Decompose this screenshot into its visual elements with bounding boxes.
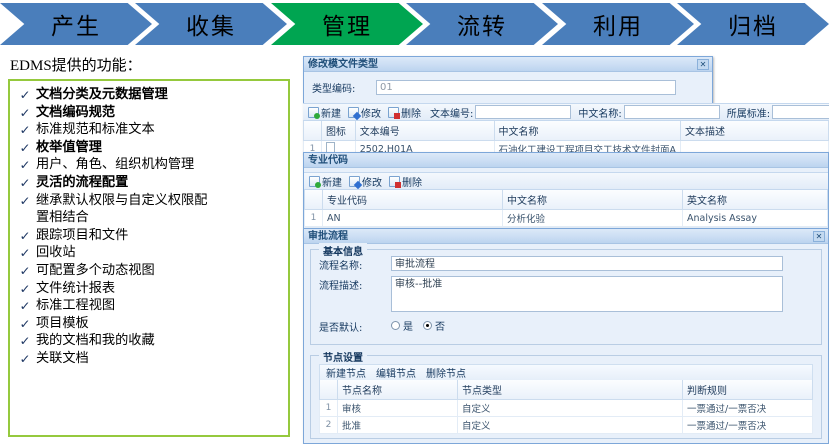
cell-ename: Analysis Assay [683,210,828,227]
search-label-cname: 中文名称: [578,105,621,120]
check-icon: ✓ [13,87,37,104]
dialog-workflow-title-bar: 审批流程 ✕ [304,229,828,244]
check-icon: ✓ [13,122,37,139]
process-step-label: 收集 [186,7,236,41]
modify-button[interactable]: 修改 [346,105,383,120]
feature-item: ✓项目模板 [14,316,284,333]
is-default-row: 是否默认: 是 否 [319,318,813,334]
delete-button-label: 删除 [401,105,421,120]
node-toolbar-button[interactable]: 编辑节点 [376,365,416,380]
process-step-label: 流转 [457,7,507,41]
node-settings-group: 节点设置 新建节点编辑节点删除节点 节点名称节点类型判断规则1审核自定义一票通过… [310,355,822,439]
column-header[interactable]: 中文名称 [494,121,681,141]
process-step-1: 产生 [0,3,152,45]
is-default-label: 是否默认: [319,318,391,334]
major-modify-label: 修改 [362,174,382,189]
feature-label: 枚举值管理 [36,140,284,157]
check-icon: ✓ [13,333,37,350]
dialog-title-bar: 修改模文件类型 ✕ [304,57,712,72]
process-step-label: 归档 [728,7,778,41]
search-input-standard[interactable] [772,105,829,119]
major-code-table[interactable]: 专业代码中文名称英文名称1AN分析化验Analysis Assay [304,190,828,227]
cell-type: 自定义 [458,400,683,417]
process-step-3: 管理 [271,3,423,45]
feature-label: 文档编码规范 [36,105,284,122]
search-input-text-no[interactable] [475,105,571,119]
column-header[interactable]: 节点类型 [458,380,683,400]
major-new-button[interactable]: 新建 [307,174,344,189]
new-icon [309,176,320,187]
feature-label: 标准规范和标准文本 [36,122,284,139]
cell-rule: 一票通过/一票否决 [683,417,813,434]
feature-item: ✓关联文档 [14,351,284,368]
process-name-label: 流程名称: [319,256,391,272]
search-label-standard: 所属标准: [727,105,770,120]
process-step-label: 利用 [593,7,643,41]
table-row[interactable]: 1审核自定义一票通过/一票否决 [320,400,813,417]
check-icon: ✓ [13,263,37,280]
check-icon: ✓ [13,298,37,315]
feature-label: 关联文档 [36,351,284,368]
cell-rule: 一票通过/一票否决 [683,400,813,417]
feature-label: 文件统计报表 [36,281,284,298]
delete-button[interactable]: 删除 [386,105,423,120]
feature-item: ✓标准工程视图 [14,298,284,315]
new-icon [308,107,319,118]
search-input-cname[interactable] [624,105,720,119]
node-settings-legend: 节点设置 [319,349,367,364]
cell-name: 批准 [338,417,458,434]
cell-name: 审核 [338,400,458,417]
process-desc-row: 流程描述: 审核--批准 [319,276,813,312]
basic-info-group: 基本信息 流程名称: 审批流程 流程描述: 审核--批准 是否默认: 是 否 [310,249,822,345]
type-code-row: 类型编码: 01 [312,80,708,95]
feature-item: 置相结合 [14,210,284,227]
column-header[interactable]: 判断规则 [683,380,813,400]
check-icon: ✓ [13,175,37,192]
major-delete-button[interactable]: 删除 [387,174,424,189]
new-button-label: 新建 [321,105,341,120]
dialog-major-title-bar: 专业代码 [304,153,828,168]
process-step-label: 管理 [322,7,372,41]
column-header[interactable] [305,190,323,210]
check-icon: ✓ [13,316,37,333]
process-step-5: 利用 [542,3,694,45]
column-header[interactable]: 节点名称 [338,380,458,400]
feature-item: ✓继承默认权限与自定义权限配 [14,193,284,210]
check-icon: ✓ [13,105,37,122]
process-name-row: 流程名称: 审批流程 [319,256,813,272]
is-default-radios[interactable]: 是 否 [391,318,445,333]
column-header[interactable]: 英文名称 [683,190,828,210]
column-header[interactable]: 图标 [321,121,355,141]
check-icon: ✓ [13,245,37,262]
process-step-4: 流转 [406,3,558,45]
basic-info-legend: 基本信息 [319,243,367,258]
node-toolbar[interactable]: 新建节点编辑节点删除节点 [319,364,813,380]
process-name-input[interactable]: 审批流程 [391,256,783,271]
feature-label: 我的文档和我的收藏 [36,333,284,350]
radio-yes-dot [391,321,400,330]
radio-yes-label: 是 [403,318,413,333]
row-number: 1 [320,400,338,417]
file-type-grid-wrap: 新建 修改 删除 文本编号: 中文名称: 所属标准: 图标文本编号中文名称文本描… [303,103,829,158]
node-table[interactable]: 节点名称节点类型判断规则1审核自定义一票通过/一票否决2批准自定义一票通过/一票… [319,380,813,434]
column-header[interactable]: 中文名称 [503,190,683,210]
table-row[interactable]: 2批准自定义一票通过/一票否决 [320,417,813,434]
table-row[interactable]: 1AN分析化验Analysis Assay [305,210,828,227]
radio-no-label: 否 [435,318,445,333]
feature-label: 用户、角色、组织机构管理 [36,157,284,174]
type-code-input[interactable]: 01 [376,80,676,95]
feature-item: ✓枚举值管理 [14,140,284,157]
file-type-toolbar[interactable]: 新建 修改 删除 文本编号: 中文名称: 所属标准: [303,103,829,121]
major-delete-label: 删除 [402,174,422,189]
node-toolbar-button[interactable]: 删除节点 [426,365,466,380]
feature-item: ✓标准规范和标准文本 [14,122,284,139]
left-panel: EDMS提供的功能： ✓文档分类及元数据管理✓文档编码规范✓标准规范和标准文本✓… [0,48,300,444]
process-desc-textarea[interactable]: 审核--批准 [391,276,783,312]
modify-button-label: 修改 [361,105,381,120]
cell-code: AN [323,210,503,227]
feature-label: 跟踪项目和文件 [36,228,284,245]
feature-list: ✓文档分类及元数据管理✓文档编码规范✓标准规范和标准文本✓枚举值管理✓用户、角色… [14,87,284,368]
radio-yes[interactable]: 是 [391,318,413,333]
column-header[interactable] [304,121,322,141]
dialog-workflow-title: 审批流程 [308,231,348,242]
feature-label: 回收站 [36,245,284,262]
column-header[interactable]: 文本编号 [355,121,494,141]
cell-type: 自定义 [458,417,683,434]
major-toolbar[interactable]: 新建 修改 删除 [304,172,828,190]
feature-item: ✓用户、角色、组织机构管理 [14,157,284,174]
feature-item: ✓文件统计报表 [14,281,284,298]
radio-no-dot [423,321,432,330]
feature-item: ✓灵活的流程配置 [14,175,284,192]
process-step-6: 归档 [677,3,829,45]
feature-label: 文档分类及元数据管理 [36,87,284,104]
close-icon[interactable]: ✕ [813,231,825,242]
feature-label: 灵活的流程配置 [36,175,284,192]
feature-item: ✓回收站 [14,245,284,262]
cell-cname: 分析化验 [503,210,683,227]
dialog-major-title: 专业代码 [308,155,348,166]
edit-icon [349,176,360,187]
feature-label: 项目模板 [36,316,284,333]
check-icon: ✓ [13,351,37,368]
column-header[interactable] [320,380,338,400]
feature-label: 继承默认权限与自定义权限配 [36,193,284,210]
feature-item: ✓我的文档和我的收藏 [14,333,284,350]
feature-label: 置相结合 [36,210,284,227]
edit-icon [348,107,359,118]
new-button[interactable]: 新建 [306,105,343,120]
page-title: EDMS提供的功能： [10,54,300,75]
check-icon: ✓ [13,281,37,298]
close-icon[interactable]: ✕ [697,59,709,70]
check-icon: ✓ [13,228,37,245]
process-step-label: 产生 [51,7,101,41]
feature-label: 标准工程视图 [36,298,284,315]
search-field-text-no[interactable]: 文本编号: [430,105,571,120]
node-toolbar-button[interactable]: 新建节点 [326,365,366,380]
search-label-text-no: 文本编号: [430,105,473,120]
dialog-approval-workflow[interactable]: 审批流程 ✕ 基本信息 流程名称: 审批流程 流程描述: 审核--批准 是否默认… [303,228,829,444]
dialog-file-type-title: 修改模文件类型 [308,59,378,70]
dialog-major-code[interactable]: 专业代码 新建 修改 删除 专业代码中文名称英文名称1AN分析化验Analysi… [303,152,829,238]
type-code-label: 类型编码: [312,80,376,95]
check-icon: ✓ [13,140,37,157]
feature-item: ✓文档分类及元数据管理 [14,87,284,104]
process-desc-label: 流程描述: [319,276,391,292]
feature-item: ✓跟踪项目和文件 [14,228,284,245]
process-step-2: 收集 [135,3,287,45]
search-field-cname[interactable]: 中文名称: [578,105,719,120]
delete-icon [388,107,399,118]
column-header[interactable]: 专业代码 [323,190,503,210]
row-number: 2 [320,417,338,434]
row-number: 1 [305,210,323,227]
dialog-major-body: 新建 修改 删除 专业代码中文名称英文名称1AN分析化验Analysis Ass… [304,172,828,227]
check-icon: ✓ [13,157,37,174]
process-step-banner: 产生收集管理流转利用归档 [0,0,829,48]
column-header[interactable]: 文本描述 [681,121,829,141]
feature-item: ✓可配置多个动态视图 [14,263,284,280]
feature-list-box: ✓文档分类及元数据管理✓文档编码规范✓标准规范和标准文本✓枚举值管理✓用户、角色… [8,79,290,437]
radio-no[interactable]: 否 [423,318,445,333]
delete-icon [389,176,400,187]
feature-item: ✓文档编码规范 [14,105,284,122]
dialog-file-type-body: 类型编码: 01 [304,72,712,104]
feature-label: 可配置多个动态视图 [36,263,284,280]
check-icon: ✓ [13,193,37,210]
search-field-standard[interactable]: 所属标准: [727,105,829,120]
major-modify-button[interactable]: 修改 [347,174,384,189]
major-new-label: 新建 [322,174,342,189]
